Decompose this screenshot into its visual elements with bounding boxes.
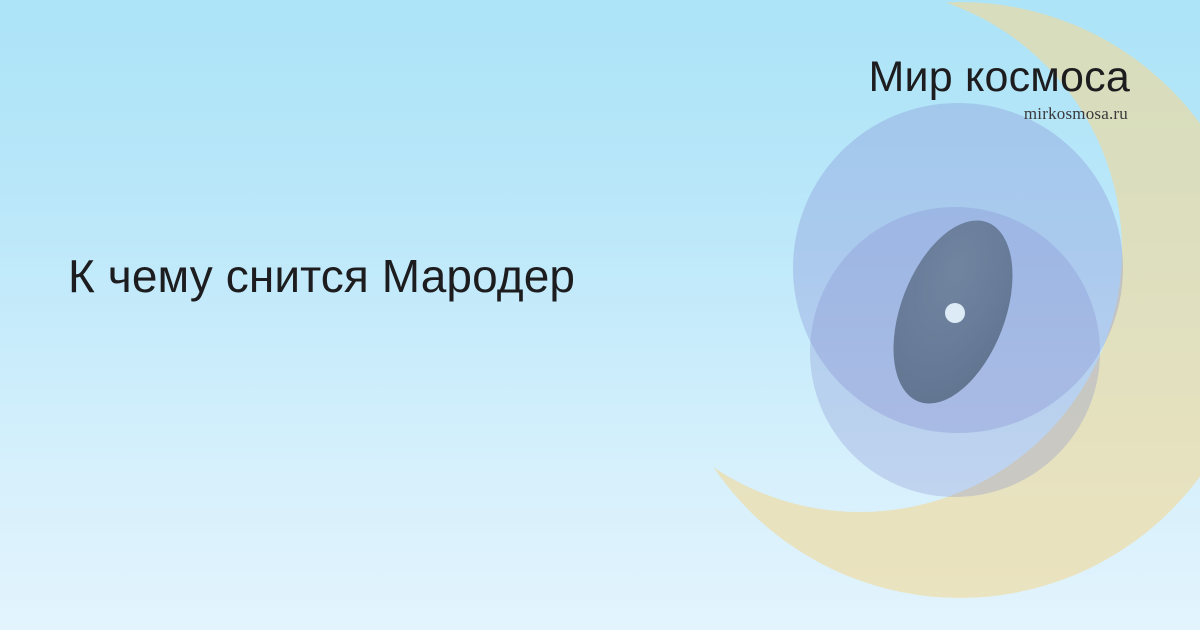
page-title: К чему снится Мародер (68, 248, 708, 304)
site-domain: mirkosmosa.ru (868, 103, 1128, 125)
social-share-card: К чему снится Мародер Мир космоса mirkos… (0, 0, 1200, 630)
planet-disc (870, 204, 1036, 421)
site-name: Мир космоса (868, 52, 1130, 102)
orbit-circle-lower (810, 207, 1100, 497)
site-branding[interactable]: Мир космоса mirkosmosa.ru (868, 52, 1130, 125)
headline-block: К чему снится Мародер (68, 248, 708, 304)
orbit-circle-upper (793, 103, 1123, 433)
core-dot (945, 303, 965, 323)
